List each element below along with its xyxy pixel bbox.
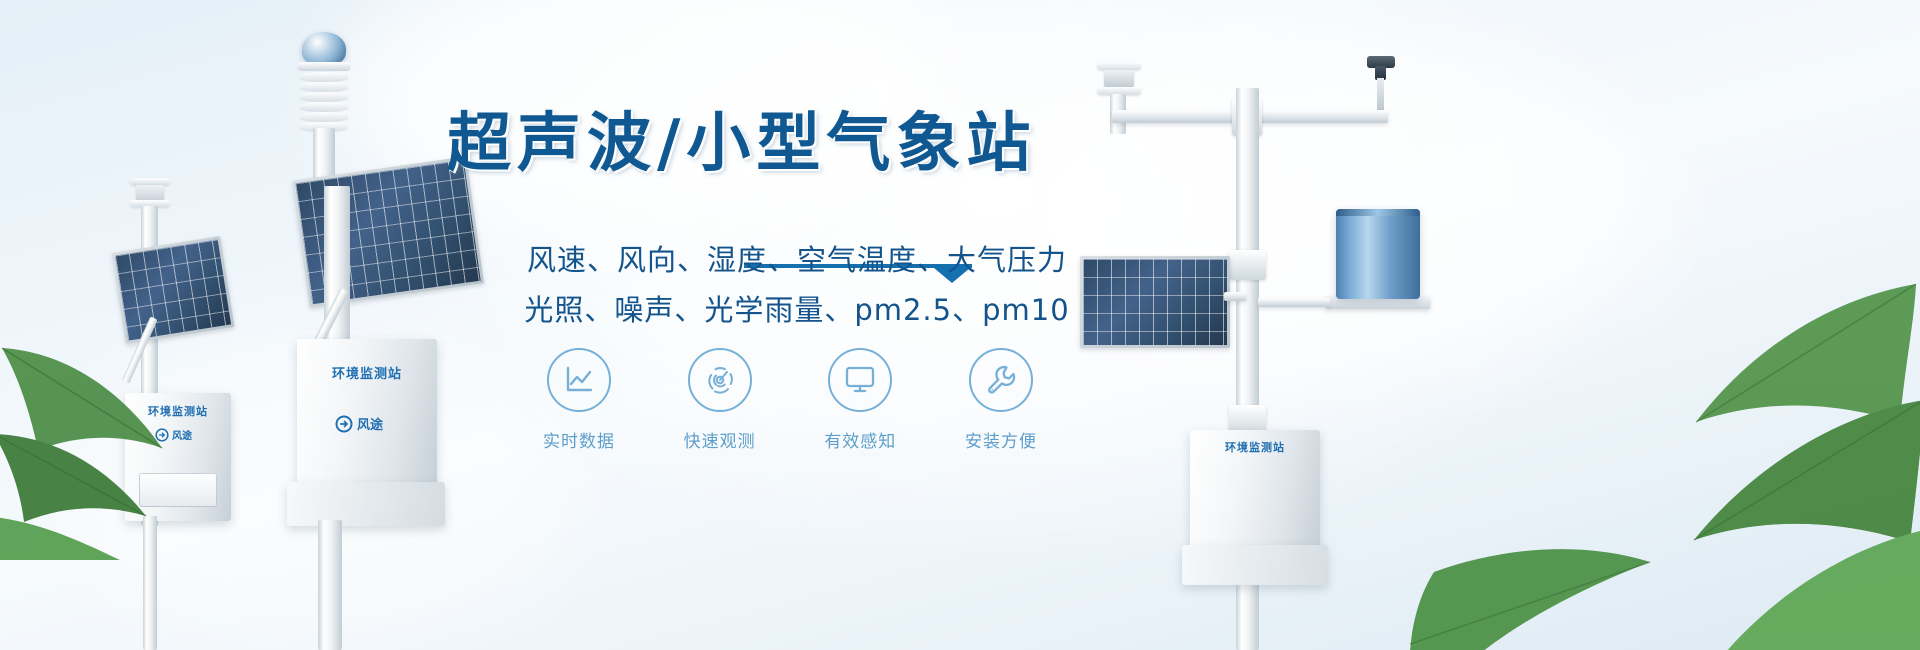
mast-left-large-lower: [318, 520, 342, 650]
wind-vane-right: [1363, 56, 1399, 114]
ultrasonic-sensor-head-small: [128, 178, 172, 208]
hero-banner: 环境监测站 风途 环境监测站: [0, 0, 1920, 650]
line-chart-icon: [547, 348, 611, 412]
feature-label: 有效感知: [824, 427, 896, 452]
solar-panel-left-small: [111, 236, 234, 344]
subtitle-line-1: 风速、风向、湿度、空气温度、大气压力: [447, 237, 1147, 279]
enclosure-base-right: [1182, 545, 1328, 585]
feature-item-easy-install[interactable]: 安装方便: [942, 348, 1060, 452]
page-title: 超声波/小型气象站: [447, 112, 1127, 177]
feature-item-realtime-data[interactable]: 实时数据: [520, 348, 638, 452]
enclosure-left-small: 环境监测站 风途: [125, 393, 231, 521]
enclosure-right: 环境监测站: [1190, 430, 1320, 548]
brand-text-left-small: 风途: [172, 427, 192, 442]
subtitle-line-2: 光照、噪声、光学雨量、pm2.5、pm10: [447, 287, 1147, 329]
enclosure-base-left-large: [287, 482, 445, 526]
brand-logo-icon: [335, 415, 353, 433]
brand-mark-left-small: 风途: [155, 427, 192, 442]
dome-base-left-large: [297, 62, 351, 71]
brand-text-left-large: 风途: [357, 414, 383, 433]
brand-logo-icon: [155, 428, 169, 442]
feature-item-fast-observation[interactable]: 快速观测: [661, 348, 779, 452]
rain-gauge-support-right: [1258, 298, 1330, 307]
feature-item-effective-sensing[interactable]: 有效感知: [801, 348, 919, 452]
enclosure-label-left-large: 环境监测站: [297, 363, 437, 382]
rain-gauge-right: [1336, 209, 1420, 299]
dome-sensor-left-large: [302, 32, 346, 66]
enclosure-label-left-small: 环境监测站: [125, 403, 231, 419]
feature-label: 安装方便: [965, 427, 1037, 452]
feature-label: 实时数据: [543, 427, 615, 452]
feature-list: 实时数据 快速观测: [520, 348, 1060, 452]
mast-left-small-lower: [143, 516, 157, 650]
mast-clamp-mid-right: [1229, 250, 1266, 280]
radar-signal-icon: [688, 348, 752, 412]
feature-label: 快速观测: [684, 427, 756, 452]
ultrasonic-wind-sensor-right: [1097, 62, 1141, 96]
radiation-shield-left-large: [300, 72, 348, 132]
solar-panel-arm-right: [1224, 292, 1246, 301]
monitor-icon: [828, 348, 892, 412]
brand-mark-left-large: 风途: [335, 414, 383, 433]
enclosure-label-right: 环境监测站: [1190, 439, 1320, 455]
enclosure-left-large: 环境监测站 风途: [297, 339, 437, 484]
enclosure-vent-left-small: [139, 473, 217, 507]
banana-leaf-right: [1404, 272, 1920, 650]
wrench-icon: [969, 348, 1033, 412]
